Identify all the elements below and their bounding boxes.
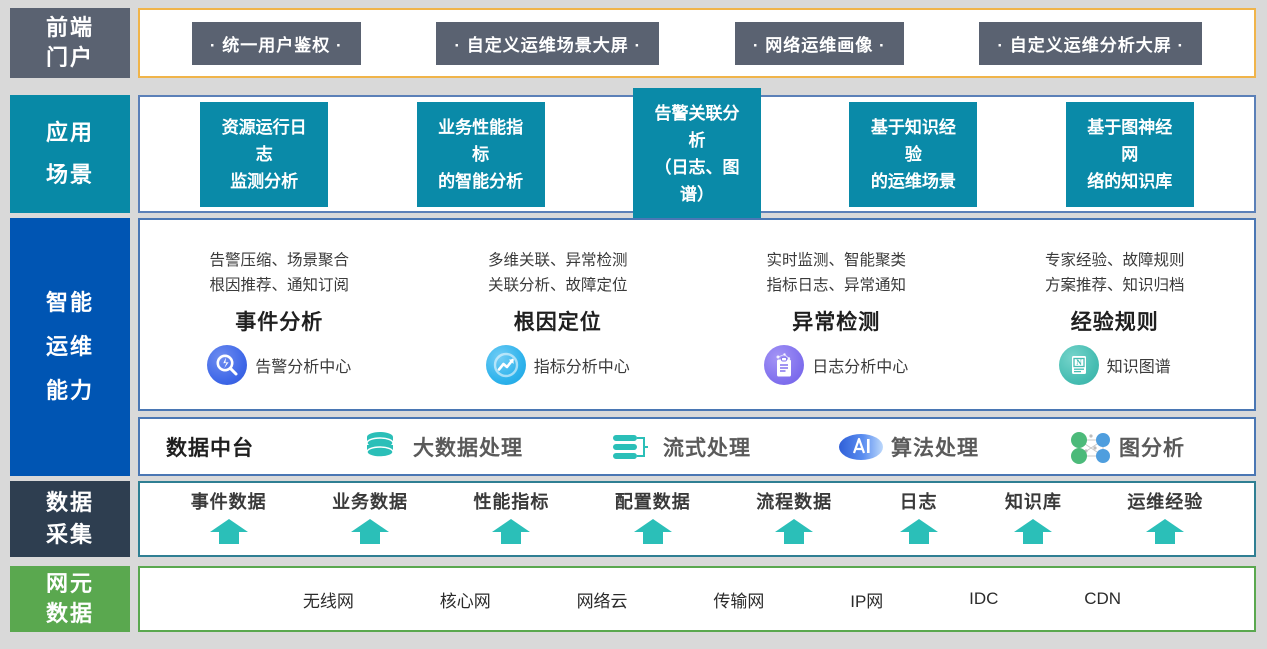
middle-platform-item[interactable]: 流式处理 <box>609 429 751 465</box>
aiops-capability-panel: 告警压缩、场景聚合 根因推荐、通知订阅 事件分析 告警分析中心 多维关联、异常检… <box>138 218 1256 411</box>
up-arrow-icon <box>632 517 674 550</box>
architecture-diagram: 前端 门户 · 统一用户鉴权 · · 自定义运维场景大屏 · · 网络运维画像 … <box>0 0 1267 649</box>
row-label-line: 运维 <box>46 325 94 369</box>
up-arrow-icon <box>1144 517 1186 550</box>
capability-description: 专家经验、故障规则 方案推荐、知识归档 <box>1045 248 1185 298</box>
data-middle-platform-items: 大数据处理 流式处理 <box>316 429 1254 465</box>
capability-description: 告警压缩、场景聚合 根因推荐、通知订阅 <box>209 248 349 298</box>
network-element-item[interactable]: 核心网 <box>440 587 491 612</box>
row-label-aiops-capability: 智能 运维 能力 <box>10 218 130 476</box>
row-label-line: 网元 <box>46 569 94 599</box>
capability-product[interactable]: 指标分析中心 <box>486 345 630 385</box>
network-element-item[interactable]: 无线网 <box>303 587 354 612</box>
row-label-line: 数据 <box>46 599 94 629</box>
row-label-line: 前端 <box>46 13 94 43</box>
middle-platform-item-label: 图分析 <box>1119 432 1185 462</box>
data-collection-item[interactable]: 流程数据 <box>756 488 832 550</box>
data-collection-label: 配置数据 <box>615 488 691 514</box>
network-element-item[interactable]: IP网 <box>850 587 883 612</box>
up-arrow-icon <box>490 517 532 550</box>
middle-platform-item-label: 算法处理 <box>891 432 979 462</box>
data-collection-label: 性能指标 <box>473 488 549 514</box>
row-label-application-scenario: 应用 场景 <box>10 95 130 213</box>
capability-product[interactable]: 日志分析中心 <box>764 345 908 385</box>
capability-title: 根因定位 <box>514 306 602 336</box>
metric-trend-icon <box>486 345 526 385</box>
capability-product[interactable]: 告警分析中心 <box>207 345 351 385</box>
capability-description: 实时监测、智能聚类 指标日志、异常通知 <box>766 248 906 298</box>
row-label-network-element-data: 网元 数据 <box>10 566 130 632</box>
middle-platform-item[interactable]: 图分析 <box>1065 429 1185 465</box>
row-label-line: 场景 <box>46 154 94 196</box>
row-label-data-collection: 数据 采集 <box>10 481 130 557</box>
capability-title: 事件分析 <box>235 306 323 336</box>
capability-title: 经验规则 <box>1071 306 1159 336</box>
row-label-line: 应用 <box>46 112 94 154</box>
middle-platform-item-label: 大数据处理 <box>413 432 523 462</box>
portal-chip[interactable]: · 网络运维画像 · <box>735 22 904 65</box>
data-collection-item[interactable]: 事件数据 <box>191 488 267 550</box>
capability-description: 多维关联、异常检测 关联分析、故障定位 <box>488 248 628 298</box>
data-middle-platform-title: 数据中台 <box>166 432 316 462</box>
network-element-item[interactable]: IDC <box>969 589 998 609</box>
capability-column: 实时监测、智能聚类 指标日志、异常通知 异常检测 <box>697 220 976 409</box>
application-scenario-card[interactable]: 基于知识经验 的运维场景 <box>849 102 977 207</box>
stream-icon <box>609 429 651 465</box>
application-scenario-panel: 资源运行日志 监测分析 业务性能指标 的智能分析 告警关联分析 （日志、图谱） … <box>138 95 1256 213</box>
application-scenario-card[interactable]: 基于图神经网 络的知识库 <box>1066 102 1194 207</box>
application-scenario-card[interactable]: 告警关联分析 （日志、图谱） <box>633 88 761 220</box>
portal-chip[interactable]: · 统一用户鉴权 · <box>192 22 361 65</box>
database-icon <box>359 429 401 465</box>
data-middle-platform-panel: 数据中台 大数据处理 <box>138 417 1256 476</box>
up-arrow-icon <box>773 517 815 550</box>
capability-column: 多维关联、异常检测 关联分析、故障定位 根因定位 指标分析中心 <box>419 220 698 409</box>
up-arrow-icon <box>1012 517 1054 550</box>
data-collection-label: 知识库 <box>1005 488 1062 514</box>
alert-search-icon <box>207 345 247 385</box>
data-collection-label: 业务数据 <box>332 488 408 514</box>
capability-title: 异常检测 <box>792 306 880 336</box>
capability-product-label: 指标分析中心 <box>534 353 630 377</box>
data-collection-panel: 事件数据 业务数据 性能指标 配置数据 流程数据 日志 知识库 <box>138 481 1256 557</box>
data-collection-label: 事件数据 <box>191 488 267 514</box>
row-label-line: 采集 <box>46 519 94 551</box>
row-label-line: 能力 <box>46 369 94 413</box>
data-collection-item[interactable]: 配置数据 <box>615 488 691 550</box>
capability-product-label: 知识图谱 <box>1107 353 1171 377</box>
data-collection-label: 流程数据 <box>756 488 832 514</box>
ai-icon <box>837 429 879 465</box>
capability-column: 告警压缩、场景聚合 根因推荐、通知订阅 事件分析 告警分析中心 <box>140 220 419 409</box>
capability-product-label: 告警分析中心 <box>255 353 351 377</box>
middle-platform-item[interactable]: 算法处理 <box>837 429 979 465</box>
capability-product-label: 日志分析中心 <box>812 353 908 377</box>
data-collection-item[interactable]: 性能指标 <box>473 488 549 550</box>
up-arrow-icon <box>898 517 940 550</box>
portal-chip[interactable]: · 自定义运维场景大屏 · <box>436 22 659 65</box>
capability-product[interactable]: N 知识图谱 <box>1059 345 1171 385</box>
middle-platform-item[interactable]: 大数据处理 <box>359 429 523 465</box>
frontend-portal-panel: · 统一用户鉴权 · · 自定义运维场景大屏 · · 网络运维画像 · · 自定… <box>138 8 1256 78</box>
graph-network-icon <box>1065 429 1107 465</box>
svg-text:N: N <box>1076 358 1082 367</box>
middle-platform-item-label: 流式处理 <box>663 432 751 462</box>
application-scenario-card[interactable]: 资源运行日志 监测分析 <box>200 102 328 207</box>
data-collection-item[interactable]: 运维经验 <box>1127 488 1203 550</box>
data-collection-item[interactable]: 业务数据 <box>332 488 408 550</box>
row-label-frontend-portal: 前端 门户 <box>10 8 130 78</box>
portal-chip[interactable]: · 自定义运维分析大屏 · <box>979 22 1202 65</box>
knowledge-graph-icon: N <box>1059 345 1099 385</box>
log-clipboard-icon <box>764 345 804 385</box>
row-label-line: 智能 <box>46 281 94 325</box>
data-collection-label: 日志 <box>900 488 938 514</box>
row-label-line: 数据 <box>46 487 94 519</box>
network-element-item[interactable]: 网络云 <box>577 587 628 612</box>
network-element-item[interactable]: 传输网 <box>713 587 764 612</box>
capability-column: 专家经验、故障规则 方案推荐、知识归档 经验规则 N 知识图谱 <box>976 220 1255 409</box>
data-collection-item[interactable]: 知识库 <box>1005 488 1062 550</box>
data-collection-label: 运维经验 <box>1127 488 1203 514</box>
row-label-line: 门户 <box>46 43 94 73</box>
data-collection-item[interactable]: 日志 <box>898 488 940 550</box>
up-arrow-icon <box>208 517 250 550</box>
application-scenario-card[interactable]: 业务性能指标 的智能分析 <box>417 102 545 207</box>
network-element-data-panel: 无线网 核心网 网络云 传输网 IP网 IDC CDN <box>138 566 1256 632</box>
network-element-item[interactable]: CDN <box>1084 589 1121 609</box>
up-arrow-icon <box>349 517 391 550</box>
